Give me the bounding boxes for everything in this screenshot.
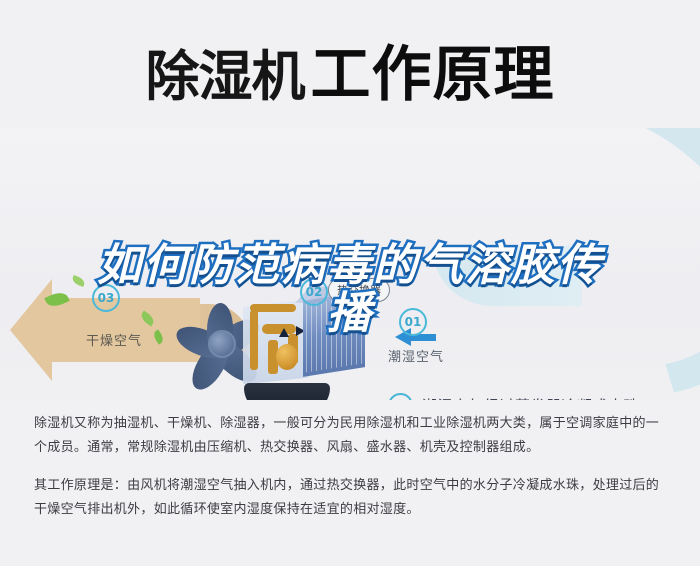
list-item: 02 潮湿空气经过蒸发器冷凝成水珠 — [388, 386, 688, 400]
title-part-1: 除湿机 — [146, 45, 305, 108]
badge-03: 03 — [92, 284, 120, 312]
paragraph-1: 除湿机又称为抽湿机、干燥机、除湿器，一般可分为民用除湿机和工业除湿机两大类，属于… — [34, 412, 666, 460]
legend-text: 潮湿空气经过蒸发器冷凝成水珠 — [422, 395, 639, 401]
compressor-base — [244, 383, 330, 400]
dry-air-label: 干燥空气 — [86, 330, 142, 349]
heat-exchanger-callout: 热交换器 — [328, 278, 390, 302]
heat-exchanger-fins — [306, 296, 362, 373]
flow-arrow-icon — [279, 328, 289, 337]
leaf-icon — [71, 275, 86, 287]
page-title: 除湿机工作原理 — [0, 26, 700, 113]
infographic-page: 除湿机工作原理 干燥空气 — [0, 0, 700, 566]
coil-pipe — [250, 310, 258, 370]
legend-list: 02 潮湿空气经过蒸发器冷凝成水珠 03 从上部出风口吹出清新干爽空气 — [388, 386, 688, 400]
article-body: 除湿机又称为抽湿机、干燥机、除湿器，一般可分为民用除湿机和工业除湿机两大类，属于… — [34, 412, 666, 536]
compressor-vessel — [276, 344, 298, 370]
diagram-illustration: 干燥空气 压缩机 水箱 03 — [0, 128, 700, 400]
title-part-2: 工作原理 — [311, 40, 555, 110]
badge-01: 01 — [399, 308, 427, 336]
humid-air-label: 潮湿空气 — [388, 346, 444, 365]
legend-number: 02 — [388, 393, 413, 401]
badge-02: 02 — [300, 278, 328, 306]
paragraph-2: 其工作原理是：由风机将潮湿空气抽入机内，通过热交换器，此时空气中的水分子冷凝成水… — [34, 474, 666, 522]
